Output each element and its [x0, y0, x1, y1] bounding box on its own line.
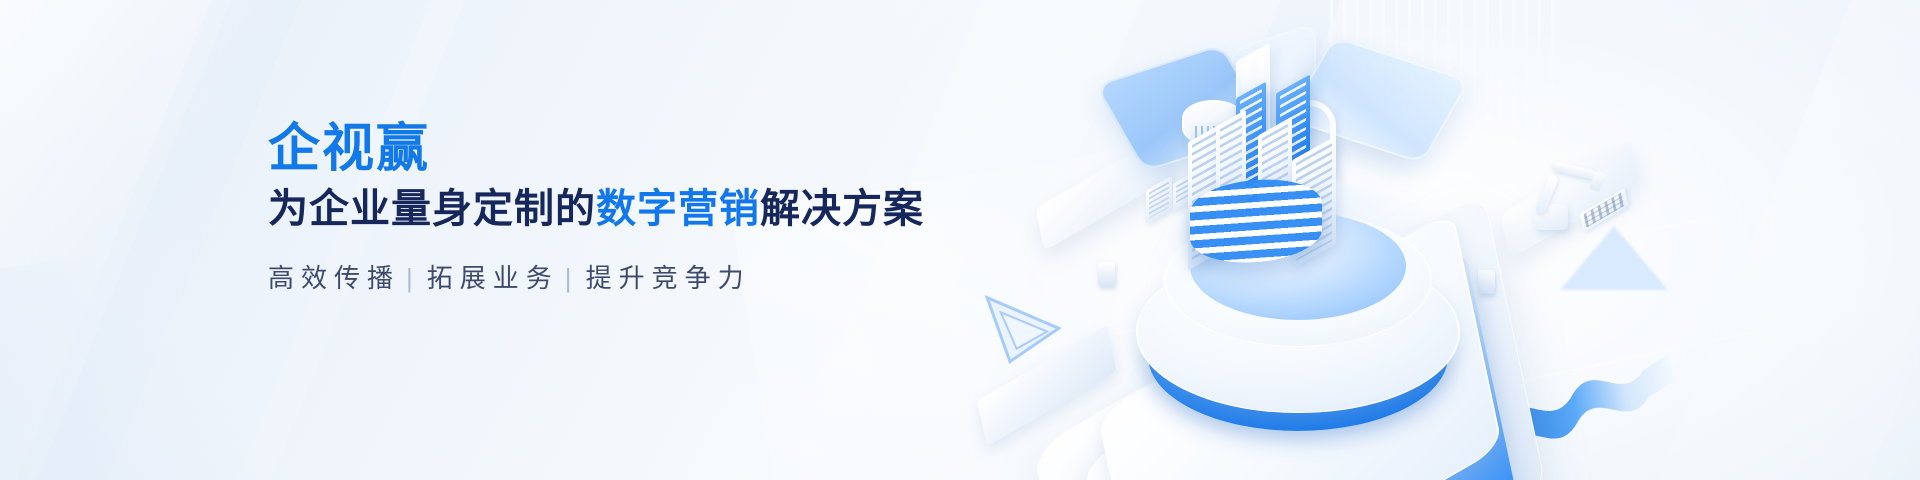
- banner-copy: 企视赢 为企业量身定制的数字营销解决方案 高效传播 | 拓展业务 | 提升竞争力: [268, 122, 908, 294]
- tagline-item-1: 高效传播: [268, 263, 400, 294]
- banner-subtitle: 为企业量身定制的数字营销解决方案: [268, 186, 908, 233]
- hero-illustration: [1040, 30, 1760, 480]
- tagline-item-3: 提升竞争力: [586, 263, 751, 294]
- robot-arm: [1526, 150, 1646, 240]
- base-foot-1: [1098, 262, 1115, 286]
- base-foot-2: [1478, 270, 1495, 294]
- marketing-banner: 企视赢 为企业量身定制的数字营销解决方案 高效传播 | 拓展业务 | 提升竞争力: [0, 0, 1920, 480]
- tagline-list: 高效传播 | 拓展业务 | 提升竞争力: [268, 263, 908, 294]
- tagline-item-2: 拓展业务: [427, 263, 559, 294]
- tagline-separator-2: |: [565, 263, 572, 294]
- robot-keypad: [1580, 188, 1629, 233]
- subtitle-prefix: 为企业量身定制的: [268, 187, 596, 231]
- subtitle-highlight: 数字营销: [596, 187, 760, 231]
- subtitle-suffix: 解决方案: [760, 187, 924, 231]
- brand-title: 企视赢: [268, 122, 908, 176]
- tagline-separator-1: |: [406, 263, 413, 294]
- robot-arm-upper: [1552, 161, 1597, 180]
